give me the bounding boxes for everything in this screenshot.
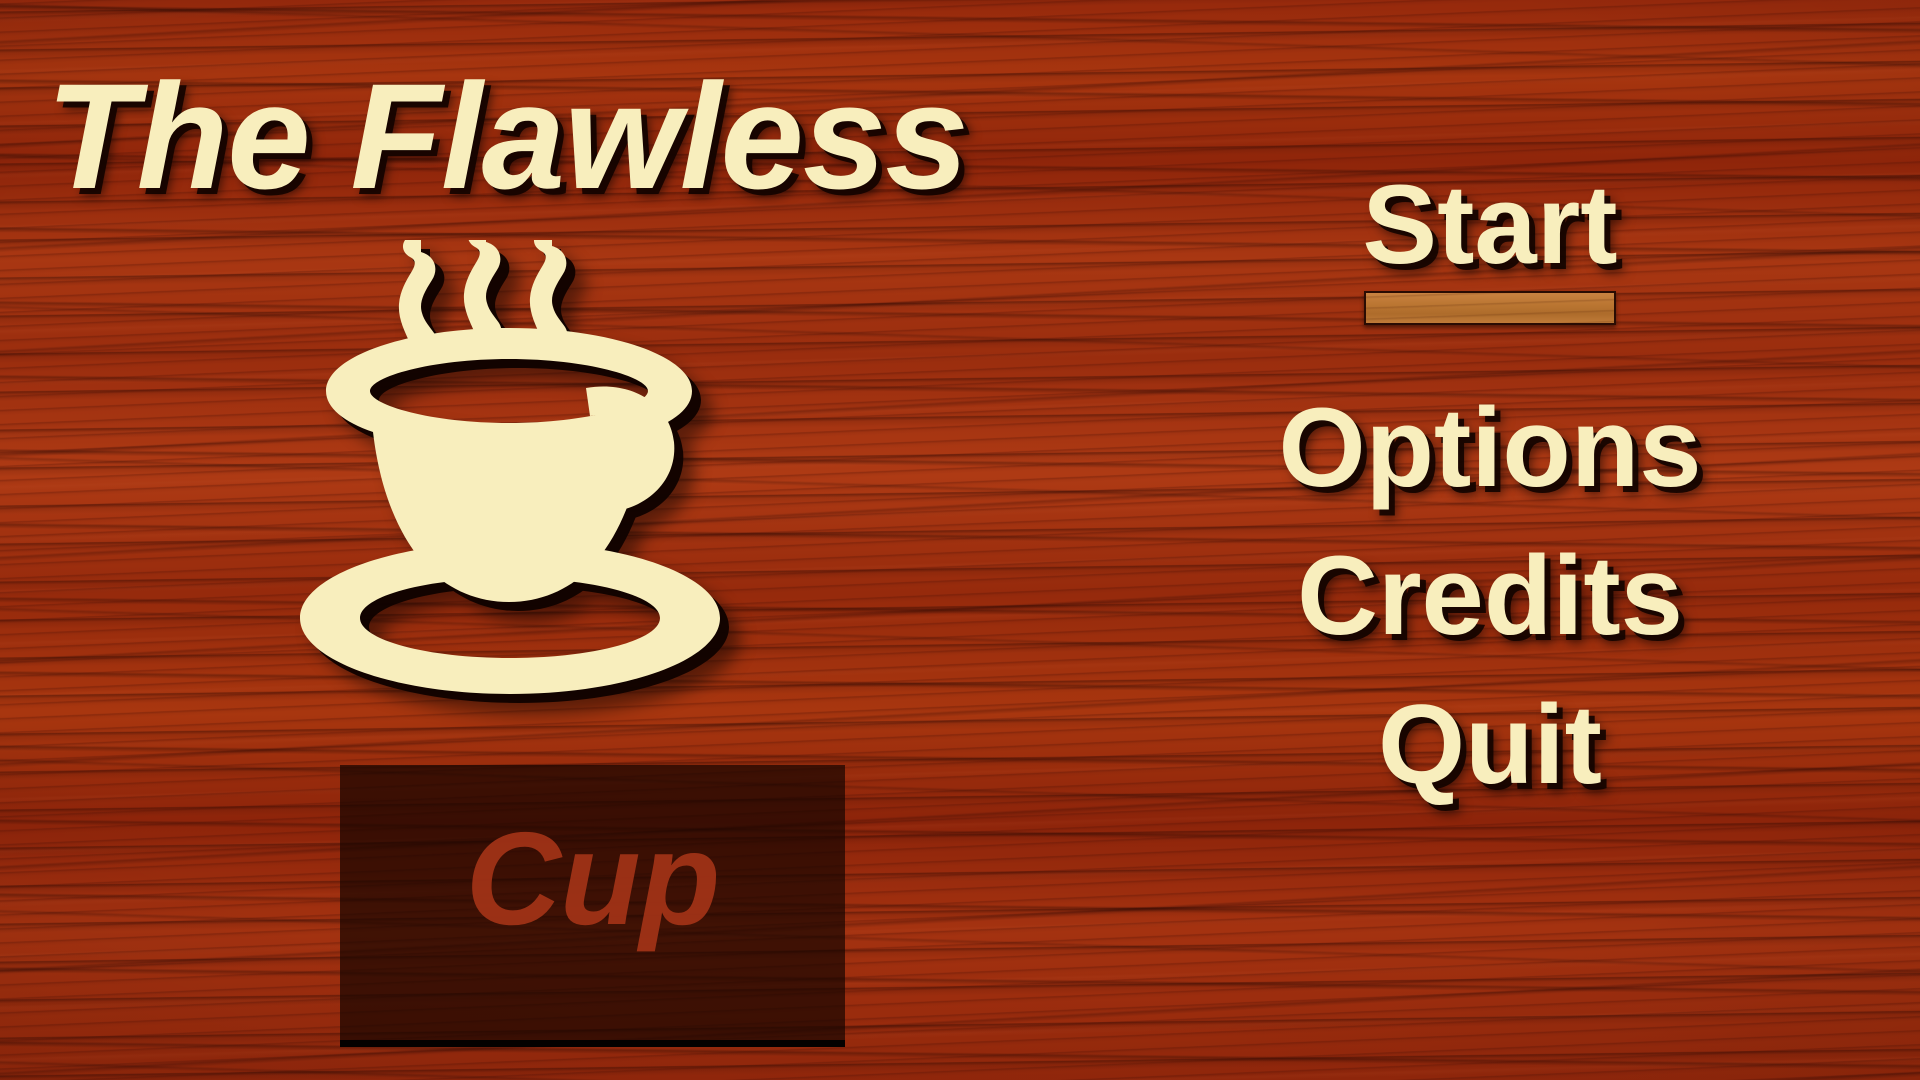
menu-selection-indicator	[1364, 291, 1616, 325]
menu-item-credits[interactable]: Credits	[1210, 539, 1770, 653]
menu-item-quit[interactable]: Quit	[1210, 688, 1770, 802]
menu-item-credits-label: Credits	[1210, 539, 1770, 653]
menu-item-start[interactable]: Start	[1210, 168, 1770, 325]
game-title: The Flawless	[46, 58, 968, 216]
menu-item-start-label: Start	[1210, 168, 1770, 282]
menu-item-options-label: Options	[1210, 391, 1770, 505]
coffee-cup-icon	[300, 240, 720, 710]
cup-word: Cup	[340, 813, 845, 945]
game-main-menu-screen: The Flawless Cup Start	[0, 0, 1920, 1080]
cup-word-plaque: Cup	[340, 765, 845, 1047]
menu-item-options[interactable]: Options	[1210, 391, 1770, 505]
menu-item-quit-label: Quit	[1210, 688, 1770, 802]
main-menu: Start Options Credits Quit	[1210, 168, 1770, 802]
